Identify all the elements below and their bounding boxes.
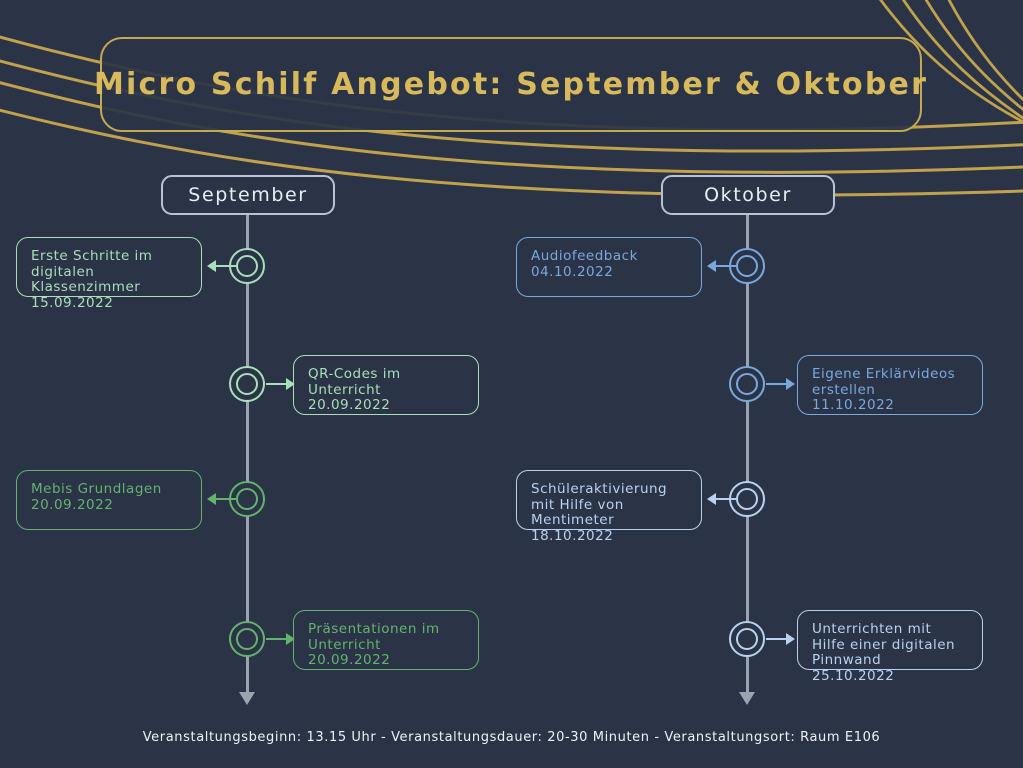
month-badge-september: September	[161, 175, 335, 215]
timeline-node-sep-4[interactable]	[229, 621, 265, 657]
node-ring-inner-icon	[236, 628, 258, 650]
event-title: Unterrichten mit Hilfe einer digitalen P…	[812, 622, 968, 669]
event-card-okt-2[interactable]: Eigene Erklärvideos erstellen 11.10.2022	[797, 355, 983, 415]
node-ring-inner-icon	[736, 255, 758, 277]
timeline-arrow-oktober	[739, 692, 755, 705]
event-card-okt-4[interactable]: Unterrichten mit Hilfe einer digitalen P…	[797, 610, 983, 670]
event-card-okt-3[interactable]: Schüleraktivierung mit Hilfe von Mentime…	[516, 470, 702, 530]
month-label-september: September	[188, 184, 307, 206]
event-title: Schüleraktivierung mit Hilfe von Mentime…	[531, 482, 687, 529]
node-ring-inner-icon	[736, 488, 758, 510]
node-ring-inner-icon	[236, 373, 258, 395]
timeline-node-sep-2[interactable]	[229, 366, 265, 402]
event-date: 04.10.2022	[531, 265, 687, 281]
page-title: Micro Schilf Angebot: September & Oktobe…	[94, 67, 928, 102]
timeline-node-okt-4[interactable]	[729, 621, 765, 657]
slide-canvas: Micro Schilf Angebot: September & Oktobe…	[0, 0, 1023, 768]
event-title: Audiofeedback	[531, 249, 687, 265]
event-title: Eigene Erklärvideos erstellen	[812, 367, 968, 398]
event-date: 20.09.2022	[308, 653, 464, 669]
timeline-arrow-september	[239, 692, 255, 705]
footer-info: Veranstaltungsbeginn: 13.15 Uhr - Verans…	[0, 730, 1023, 745]
event-date: 20.09.2022	[308, 398, 464, 414]
node-ring-inner-icon	[236, 488, 258, 510]
event-date: 15.09.2022	[31, 296, 187, 312]
month-label-oktober: Oktober	[704, 184, 792, 206]
event-card-sep-4[interactable]: Präsentationen im Unterricht 20.09.2022	[293, 610, 479, 670]
event-title: Erste Schritte im digitalen Klassenzimme…	[31, 249, 187, 296]
event-title: Präsentationen im Unterricht	[308, 622, 464, 653]
event-date: 25.10.2022	[812, 669, 968, 685]
timeline-node-okt-2[interactable]	[729, 366, 765, 402]
month-badge-oktober: Oktober	[661, 175, 835, 215]
event-date: 20.09.2022	[31, 498, 187, 514]
node-ring-inner-icon	[236, 255, 258, 277]
event-card-sep-2[interactable]: QR-Codes im Unterricht 20.09.2022	[293, 355, 479, 415]
event-card-sep-1[interactable]: Erste Schritte im digitalen Klassenzimme…	[16, 237, 202, 297]
event-title: QR-Codes im Unterricht	[308, 367, 464, 398]
slide-title-box: Micro Schilf Angebot: September & Oktobe…	[100, 37, 922, 132]
event-title: Mebis Grundlagen	[31, 482, 187, 498]
event-date: 18.10.2022	[531, 529, 687, 545]
node-ring-inner-icon	[736, 628, 758, 650]
event-card-sep-3[interactable]: Mebis Grundlagen 20.09.2022	[16, 470, 202, 530]
event-card-okt-1[interactable]: Audiofeedback 04.10.2022	[516, 237, 702, 297]
node-ring-inner-icon	[736, 373, 758, 395]
event-date: 11.10.2022	[812, 398, 968, 414]
